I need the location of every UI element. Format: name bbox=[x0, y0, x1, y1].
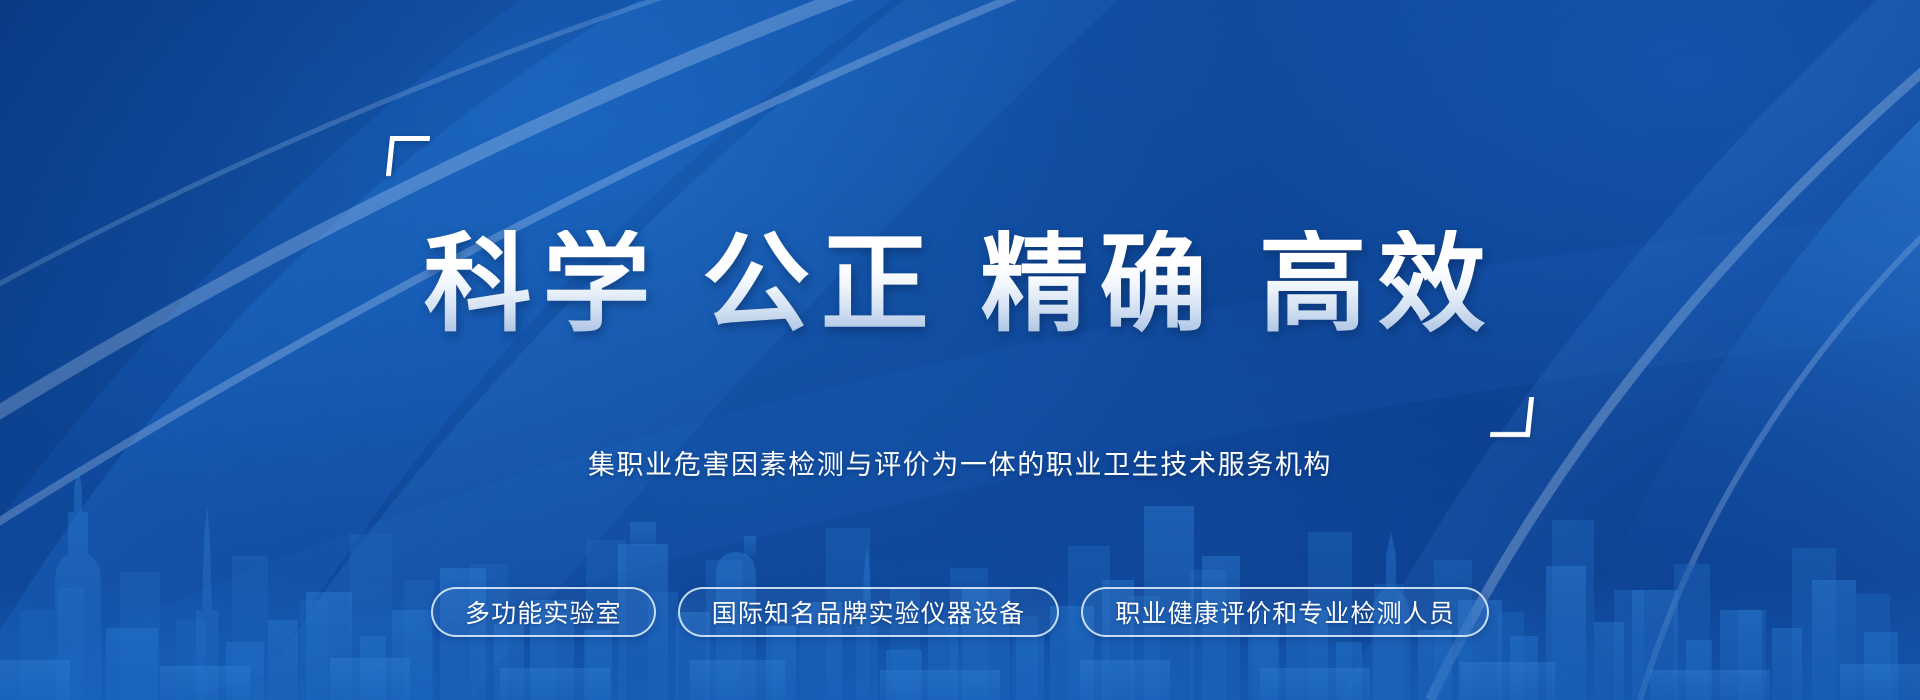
hero-banner: 科学 公正 精确 高效 集职业危害因素检测与评价为一体的职业卫生技术服务机构 多… bbox=[0, 0, 1920, 700]
quote-bracket-close-icon bbox=[1490, 397, 1534, 437]
feature-pill-lab[interactable]: 多功能实验室 bbox=[431, 587, 656, 637]
page-title: 科学 公正 精确 高效 bbox=[410, 230, 1511, 338]
banner-content: 科学 公正 精确 高效 集职业危害因素检测与评价为一体的职业卫生技术服务机构 多… bbox=[0, 0, 1920, 700]
quote-bracket-open-icon bbox=[385, 136, 429, 176]
feature-pill-staff[interactable]: 职业健康评价和专业检测人员 bbox=[1081, 587, 1489, 637]
feature-pill-row: 多功能实验室 国际知名品牌实验仪器设备 职业健康评价和专业检测人员 bbox=[431, 587, 1489, 637]
headline-block: 科学 公正 精确 高效 bbox=[410, 158, 1511, 411]
feature-pill-equipment[interactable]: 国际知名品牌实验仪器设备 bbox=[678, 587, 1060, 637]
banner-subtitle: 集职业危害因素检测与评价为一体的职业卫生技术服务机构 bbox=[588, 443, 1332, 482]
